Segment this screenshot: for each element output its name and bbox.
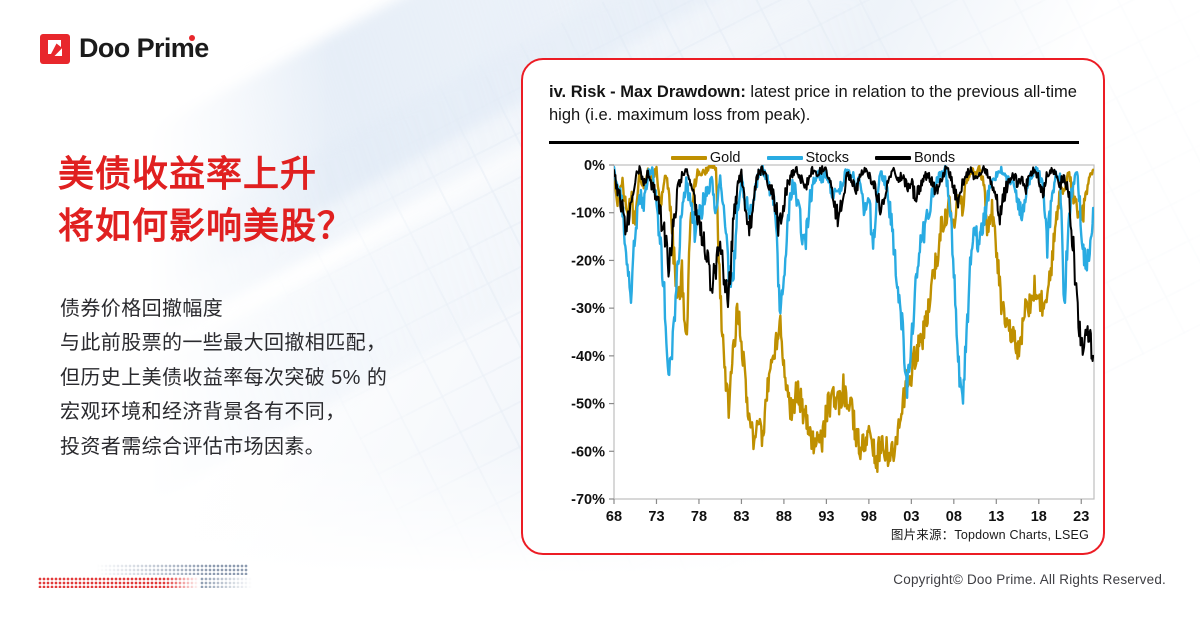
svg-text:68: 68 [606,509,622,525]
svg-text:18: 18 [1031,509,1047,525]
logo-i-dot [189,35,195,41]
poster-canvas: Doo Prime 美债收益率上升 将如何影响美股？ 债券价格回撤幅度 与此前股… [0,0,1200,628]
chart-source-note: 图片来源：Topdown Charts, LSEG [891,524,1089,543]
halftone-red-bar [38,577,200,588]
svg-text:78: 78 [691,509,707,525]
svg-text:08: 08 [946,509,962,525]
body-line-3: 但历史上美债收益率每次突破 5% 的 [60,361,387,395]
svg-text:83: 83 [733,509,749,525]
doo-prime-mark-icon [40,34,70,64]
svg-text:-60%: -60% [571,444,605,460]
body-line-4: 宏观环境和经济背景各有不同， [60,395,387,429]
svg-text:93: 93 [818,509,834,525]
svg-text:03: 03 [903,509,919,525]
body-line-1: 债券价格回撤幅度 [60,292,387,326]
copyright-notice: Copyright© Doo Prime. All Rights Reserve… [893,572,1166,587]
page-title: 美债收益率上升 将如何影响美股？ [58,148,354,252]
chart-plot-area: 0%-10%-20%-30%-40%-50%-60%-70%6873788388… [523,60,1107,557]
svg-text:13: 13 [988,509,1004,525]
svg-text:-70%: -70% [571,492,605,508]
halftone-gray-bar [96,564,248,575]
brand-logo[interactable]: Doo Prime [40,33,209,64]
chart-card: iv. Risk - Max Drawdown: latest price in… [521,58,1105,555]
svg-text:88: 88 [776,509,792,525]
svg-text:-40%: -40% [571,349,605,365]
svg-text:0%: 0% [584,158,605,174]
halftone-gray-bar-2 [200,577,252,588]
halftone-decoration [38,564,248,590]
svg-text:23: 23 [1073,509,1089,525]
headline-line-2: 将如何影响美股？ [58,200,354,252]
drawdown-chart-svg: 0%-10%-20%-30%-40%-50%-60%-70%6873788388… [523,60,1107,557]
svg-text:-50%: -50% [571,397,605,413]
svg-text:98: 98 [861,509,877,525]
body-line-2: 与此前股票的一些最大回撤相匹配， [60,326,387,360]
body-line-5: 投资者需综合评估市场因素。 [60,430,387,464]
svg-text:-30%: -30% [571,301,605,317]
headline-line-1: 美债收益率上升 [58,148,354,200]
body-copy: 债券价格回撤幅度 与此前股票的一些最大回撤相匹配， 但历史上美债收益率每次突破 … [60,292,387,464]
svg-text:-20%: -20% [571,253,605,269]
brand-logo-text: Doo Prime [79,33,209,64]
svg-text:-10%: -10% [571,206,605,222]
svg-text:73: 73 [648,509,664,525]
